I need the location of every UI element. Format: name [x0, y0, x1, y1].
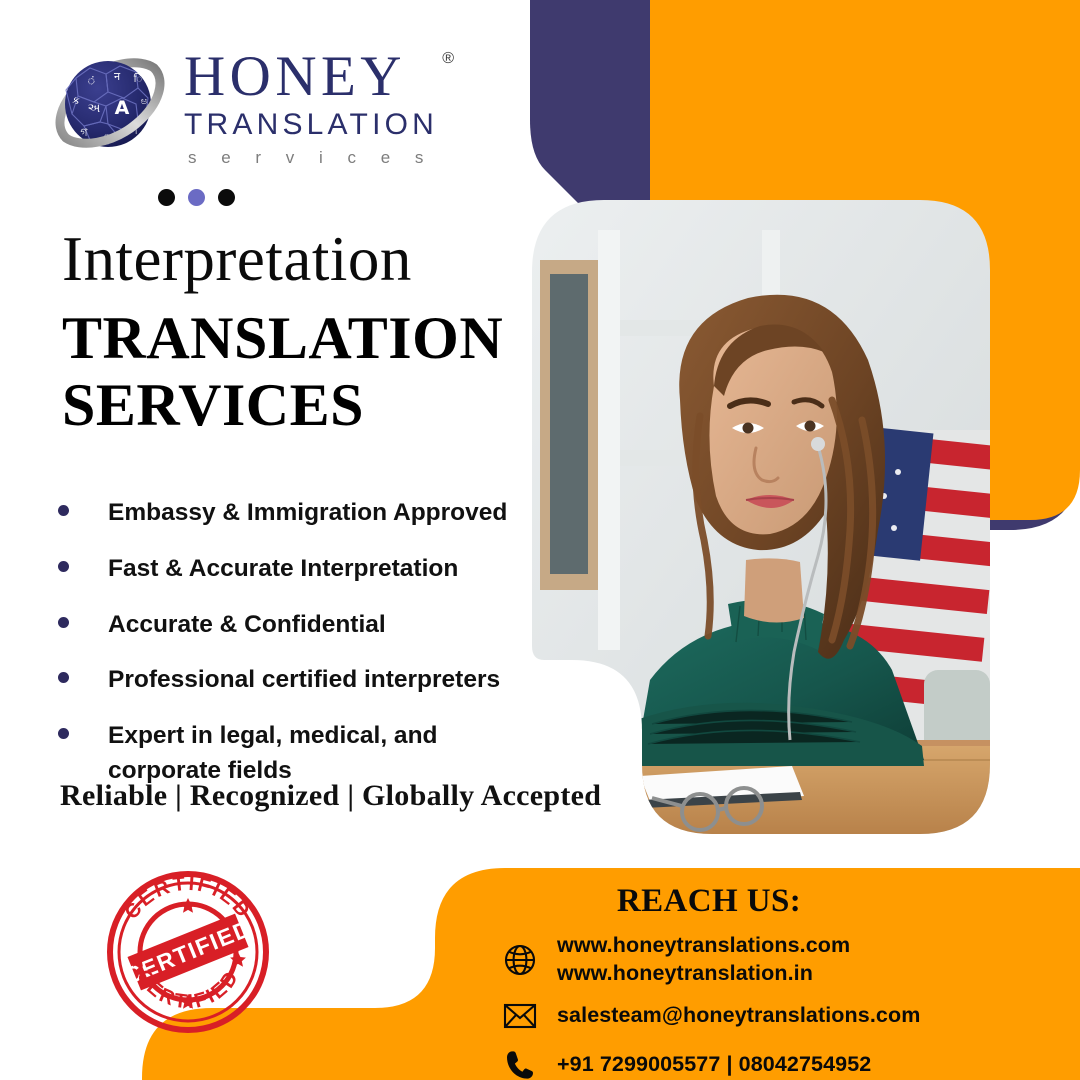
globe-icon	[500, 940, 540, 980]
email-line[interactable]: salesteam@honeytranslations.com	[557, 1002, 920, 1030]
svg-text:न: न	[114, 70, 121, 83]
svg-text:்: ்	[87, 74, 97, 87]
decorative-dots	[158, 189, 235, 206]
dot-1	[158, 189, 175, 206]
bullet-dot-icon	[58, 617, 69, 628]
envelope-icon	[500, 996, 540, 1036]
svg-text:গ: গ	[80, 126, 88, 139]
feature-list: Embassy & Immigration Approved Fast & Ac…	[58, 496, 528, 810]
contact-panel-title: REACH US:	[430, 868, 1080, 920]
list-item-label: Accurate & Confidential	[108, 608, 386, 643]
list-item: Embassy & Immigration Approved	[58, 496, 528, 531]
svg-text:અ: અ	[88, 101, 101, 115]
interpreter-photo	[532, 200, 990, 834]
website-line-1[interactable]: www.honeytranslations.com	[557, 932, 850, 960]
contact-website-values: www.honeytranslations.com www.honeytrans…	[557, 932, 850, 987]
contact-panel: REACH US: www.honeytranslations.com	[140, 868, 1080, 1080]
registered-trademark-icon: ®	[442, 50, 454, 68]
logo-tertiary: s e r v i c e s	[184, 148, 438, 168]
bullet-dot-icon	[58, 561, 69, 572]
svg-text:ક: ક	[72, 94, 80, 107]
bullet-dot-icon	[58, 505, 69, 516]
contact-list: www.honeytranslations.com www.honeytrans…	[430, 932, 1080, 1080]
contact-phone-values: +91 7299005577 | 08042754952	[557, 1051, 871, 1079]
poster-canvas: ் न ि ક અ A ಅ গ ா প HONEY	[0, 0, 1080, 1080]
phone-icon	[500, 1045, 540, 1080]
contact-row-email[interactable]: salesteam@honeytranslations.com	[500, 996, 1080, 1036]
headline-script-line: Interpretation	[62, 228, 532, 291]
list-item: Fast & Accurate Interpretation	[58, 552, 528, 587]
list-item-label: Professional certified interpreters	[108, 663, 500, 698]
website-line-2[interactable]: www.honeytranslation.in	[557, 960, 850, 988]
globe-languages-icon: ் न ि ક અ A ಅ গ ா প	[52, 52, 170, 162]
page-title: Interpretation TRANSLATION SERVICES	[62, 228, 532, 439]
contact-row-phone[interactable]: +91 7299005577 | 08042754952	[500, 1045, 1080, 1080]
headline-main-line-1: TRANSLATION	[62, 305, 532, 372]
logo-wordmark: HONEY	[184, 50, 438, 104]
dot-3	[218, 189, 235, 206]
tagline: Reliable | Recognized | Globally Accepte…	[60, 779, 601, 813]
list-item-label: Fast & Accurate Interpretation	[108, 552, 458, 587]
phone-line[interactable]: +91 7299005577 | 08042754952	[557, 1051, 871, 1079]
svg-text:ि: ि	[134, 73, 143, 85]
svg-text:A: A	[115, 97, 130, 119]
list-item-label: Embassy & Immigration Approved	[108, 496, 507, 531]
contact-row-website[interactable]: www.honeytranslations.com www.honeytrans…	[500, 932, 1080, 987]
list-item: Professional certified interpreters	[58, 663, 528, 698]
brand-logo[interactable]: ் न ि ક અ A ಅ গ ா প HONEY	[52, 46, 472, 168]
bullet-dot-icon	[58, 672, 69, 683]
contact-email-values: salesteam@honeytranslations.com	[557, 1002, 920, 1030]
headline-main-line-2: SERVICES	[62, 372, 532, 439]
svg-text:ಅ: ಅ	[141, 96, 148, 107]
logo-subtitle: TRANSLATION	[184, 108, 438, 142]
list-item: Accurate & Confidential	[58, 608, 528, 643]
bullet-dot-icon	[58, 728, 69, 739]
dot-2	[188, 189, 205, 206]
